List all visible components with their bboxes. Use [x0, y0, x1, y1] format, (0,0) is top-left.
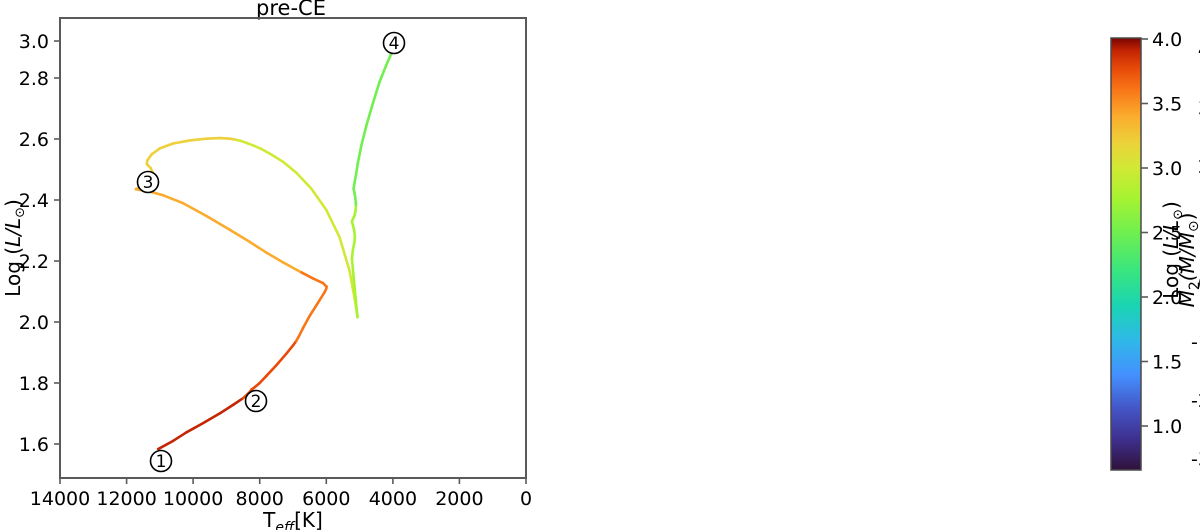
- track-segment: [352, 250, 353, 259]
- pre-ce-panel: pre-CE 1.6 1.8 2.0 2.2 2.4 2.6 2.8 3.0: [0, 0, 600, 530]
- track-segment: [380, 65, 387, 82]
- cb-label-sun: ⊙: [1186, 220, 1200, 232]
- ylabel-close: ): [1, 199, 25, 207]
- x-tick-label: 6000: [302, 488, 350, 510]
- pre-ce-track: [136, 50, 393, 449]
- track-segment: [261, 149, 271, 154]
- track-segment: [373, 82, 380, 103]
- x-tick-label: 12000: [96, 488, 156, 510]
- track-segment: [358, 146, 361, 163]
- x-tick-label: 10000: [163, 488, 223, 510]
- annotation-label: 2: [251, 392, 262, 412]
- track-segment: [283, 162, 296, 173]
- track-segment: [160, 144, 173, 149]
- colorbar-tick-label: 1.0: [1152, 416, 1182, 438]
- x-tick-label: 14000: [30, 488, 90, 510]
- track-segment: [206, 138, 219, 139]
- cb-label-sub: 2: [1187, 281, 1200, 290]
- track-segment: [266, 253, 283, 263]
- track-segment: [356, 298, 357, 312]
- colorbar-tick-label: 3.5: [1152, 94, 1182, 116]
- colorbar-tick-label: 4.0: [1152, 29, 1182, 51]
- y-tick-label: 2.0: [19, 312, 49, 334]
- pre-ce-x-axis: 14000 12000 10000 8000 6000 4000 2000 0: [30, 478, 532, 510]
- track-segment: [286, 345, 293, 353]
- cb-label-paren: (M/M: [1175, 232, 1199, 281]
- pre-ce-axes-frame: [60, 18, 526, 478]
- track-segment: [313, 278, 323, 283]
- track-segment: [230, 230, 250, 242]
- track-segment: [183, 203, 206, 216]
- track-segment: [203, 413, 220, 423]
- colorbar-tick-label: 1.5: [1152, 352, 1182, 374]
- track-segment: [386, 56, 390, 65]
- pre-ce-y-axis-title: Log (L/L⊙): [1, 199, 28, 297]
- annotation-label: 1: [156, 452, 167, 472]
- cb-label-close: ): [1175, 213, 1199, 221]
- annotation-marker-3: 3: [138, 172, 159, 194]
- pre-ce-annotations: 1 2 3 4: [138, 33, 405, 473]
- track-segment: [352, 259, 354, 277]
- x-tick-label: 4000: [369, 488, 417, 510]
- track-segment: [318, 292, 325, 303]
- y-tick-label: 1.6: [19, 434, 49, 456]
- annotation-label: 4: [389, 34, 400, 54]
- track-segment: [296, 173, 311, 189]
- track-segment: [158, 441, 173, 449]
- track-segment: [206, 216, 229, 230]
- track-segment: [366, 103, 373, 126]
- track-segment: [276, 354, 286, 366]
- svg-text:Log (L/L⊙): Log (L/L⊙): [1, 199, 28, 297]
- track-segment: [283, 262, 300, 271]
- colorbar-gradient: [1111, 38, 1141, 470]
- annotation-label: 3: [143, 173, 154, 193]
- x-tick-label: 2000: [435, 488, 483, 510]
- track-segment: [186, 423, 203, 432]
- track-segment: [190, 139, 207, 141]
- xlabel-eff: eff: [275, 520, 296, 530]
- track-segment: [361, 126, 366, 146]
- annotation-marker-1: 1: [151, 451, 172, 473]
- xlabel-T: T: [262, 508, 276, 530]
- y-tick-label: 1.8: [19, 373, 49, 395]
- colorbar-tick-label: 3.0: [1152, 158, 1182, 180]
- track-segment: [260, 376, 267, 383]
- ylabel-L: L/L: [1, 218, 25, 247]
- track-segment: [300, 271, 313, 278]
- figure-canvas: pre-CE 1.6 1.8 2.0 2.2 2.4 2.6 2.8 3.0: [0, 0, 1200, 530]
- track-segment: [163, 195, 183, 203]
- xlabel-unit: [K]: [294, 508, 323, 530]
- y-tick-label: 3.0: [19, 31, 49, 53]
- track-segment: [310, 303, 318, 316]
- track-segment: [220, 405, 233, 414]
- track-segment: [266, 365, 276, 376]
- track-segment: [250, 242, 267, 253]
- track-segment: [152, 148, 160, 154]
- y-tick-label: 2.8: [19, 68, 49, 90]
- annotation-marker-4: 4: [384, 33, 405, 55]
- track-segment: [220, 138, 230, 139]
- ylabel-sun: ⊙: [13, 207, 28, 218]
- x-tick-label: 0: [520, 488, 532, 510]
- annotation-marker-2: 2: [246, 391, 267, 413]
- track-segment: [303, 316, 310, 328]
- track-segment: [173, 140, 190, 143]
- track-segment: [173, 432, 186, 441]
- track-segment: [253, 145, 261, 149]
- track-segment: [355, 173, 357, 182]
- track-segment: [271, 154, 283, 161]
- y-tick-label: 2.6: [19, 129, 49, 151]
- colorbar: 4.0 3.5 3.0 2.5 2.0 1.5 1.0 M2(M/M⊙): [1080, 0, 1200, 530]
- pre-ce-x-axis-title: Teff[K]: [262, 508, 323, 530]
- track-segment: [233, 398, 243, 405]
- ylabel-log: Log (: [1, 247, 25, 297]
- cb-label-M2: M: [1175, 290, 1199, 307]
- track-segment: [311, 189, 326, 210]
- track-segment: [326, 210, 339, 237]
- track-segment: [340, 237, 350, 271]
- x-tick-label: 8000: [236, 488, 284, 510]
- track-segment: [356, 163, 358, 174]
